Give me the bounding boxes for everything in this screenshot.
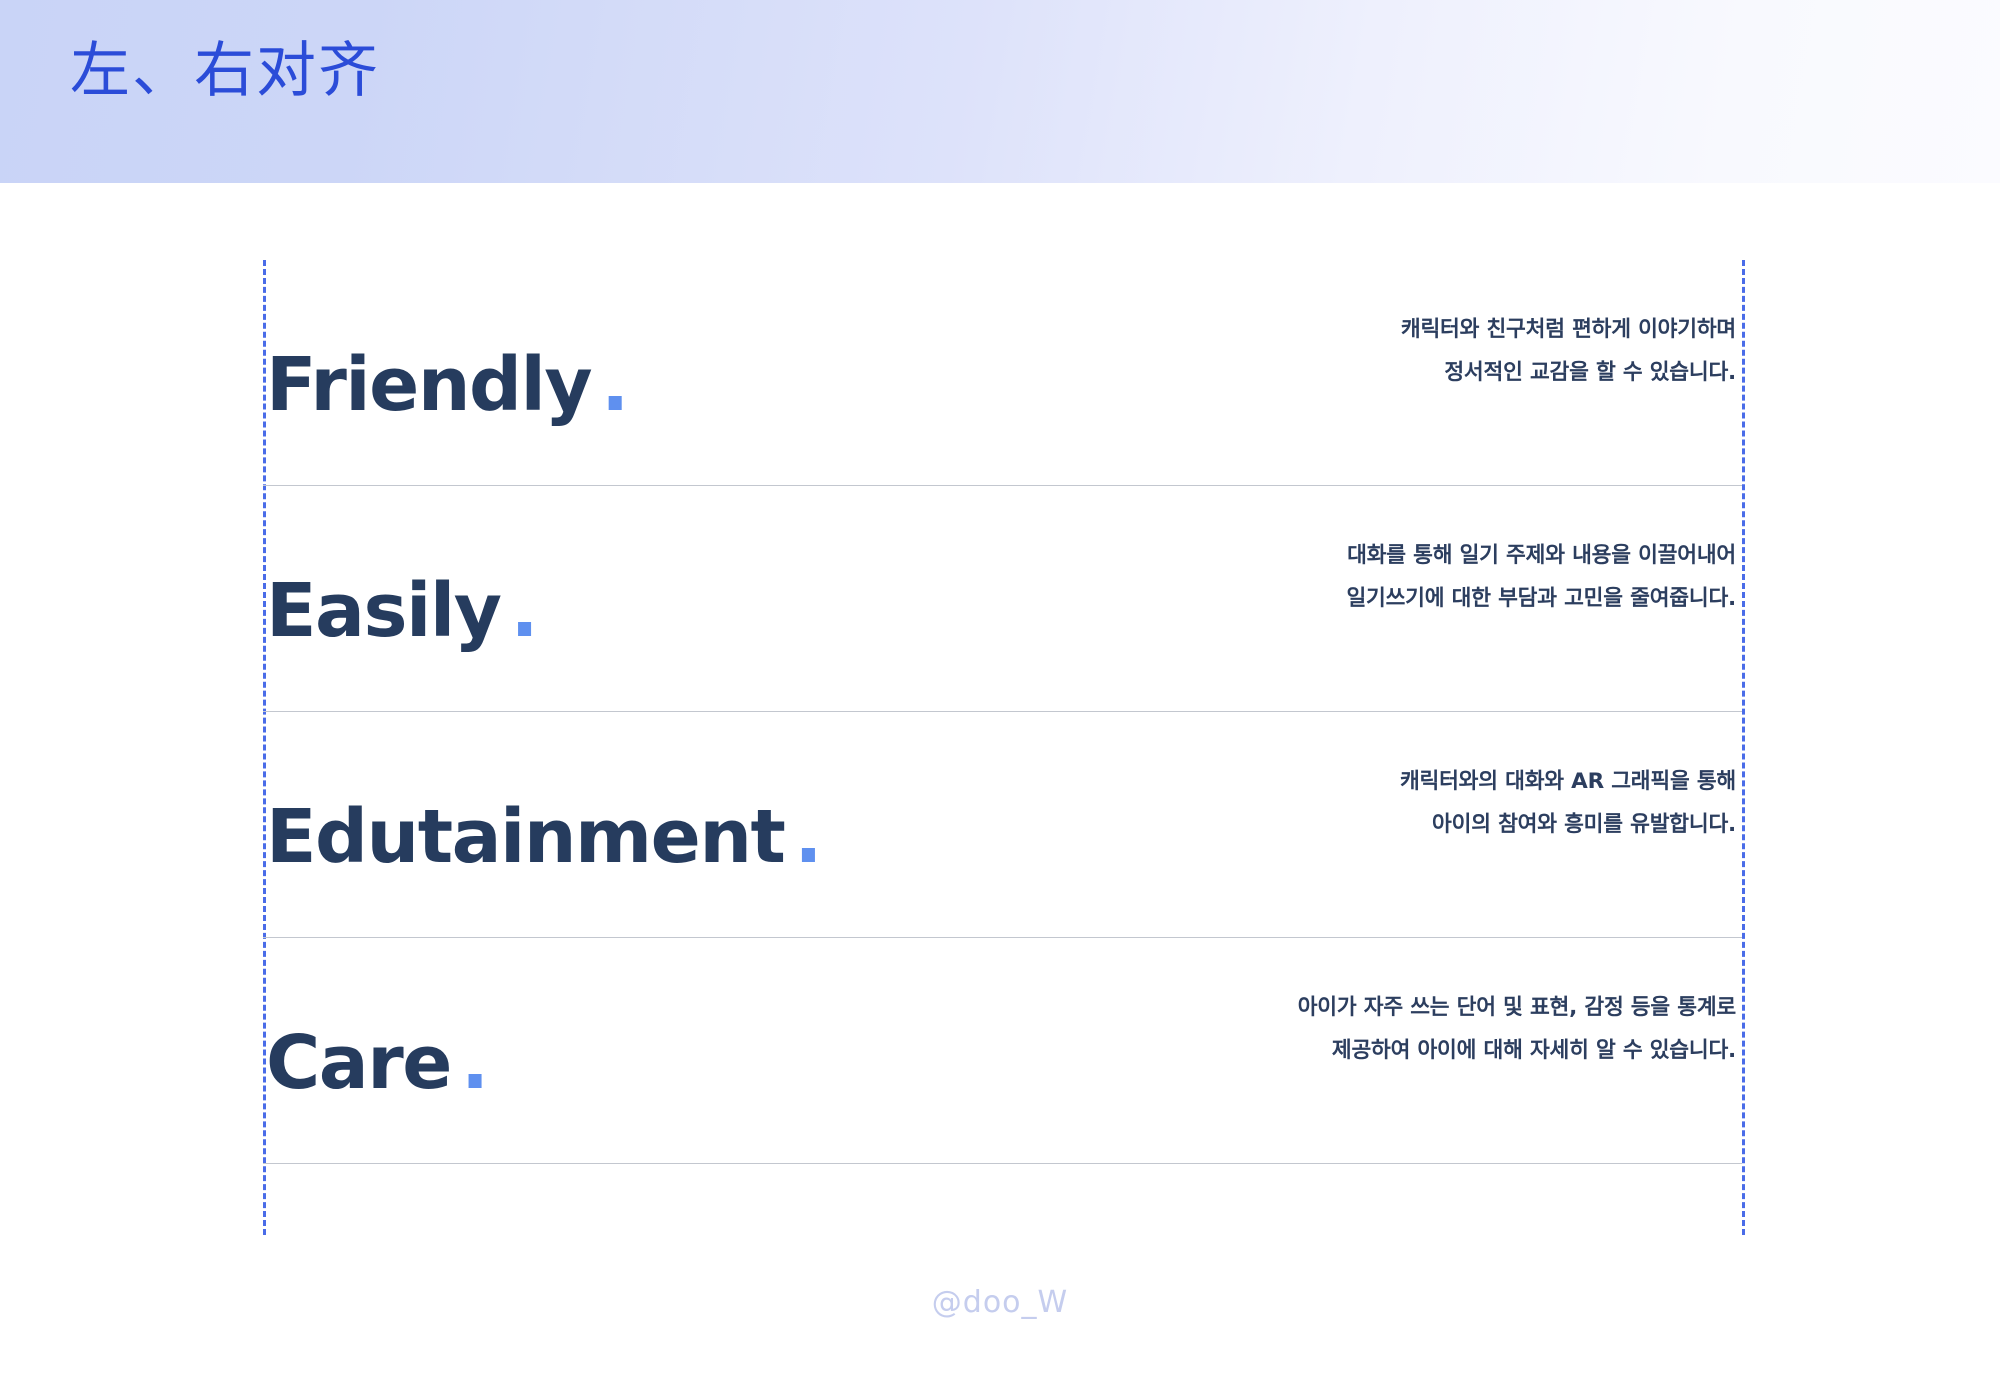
list-item: Edutainment . 캐릭터와의 대화와 AR 그래픽을 통해 아이의 참… (263, 712, 1742, 938)
feature-heading: Friendly . (266, 348, 628, 422)
feature-heading: Edutainment . (266, 800, 821, 874)
feature-description: 아이가 자주 쓰는 단어 및 표현, 감정 등을 통계로 제공하여 아이에 대해… (1298, 986, 1736, 1072)
list-item: Friendly . 캐릭터와 친구처럼 편하게 이야기하며 정서적인 교감을 … (263, 260, 1742, 486)
feature-description-line-1: 캐릭터와의 대화와 AR 그래픽을 통해 (1400, 760, 1736, 803)
feature-description-line-2: 아이의 참여와 흥미를 유발합니다. (1400, 803, 1736, 846)
trailing-spacer (263, 1164, 1742, 1390)
feature-description: 캐릭터와 친구처럼 편하게 이야기하며 정서적인 교감을 할 수 있습니다. (1401, 308, 1736, 394)
slide-canvas: Friendly . 캐릭터와 친구처럼 편하게 이야기하며 정서적인 교감을 … (0, 183, 2000, 1331)
feature-heading-text: Easily (266, 574, 501, 648)
accent-dot: . (601, 348, 628, 422)
alignment-guide-right (1742, 260, 1745, 1235)
feature-description-line-1: 캐릭터와 친구처럼 편하게 이야기하며 (1401, 308, 1736, 351)
feature-description-line-2: 제공하여 아이에 대해 자세히 알 수 있습니다. (1298, 1029, 1736, 1072)
list-item: Easily . 대화를 통해 일기 주제와 내용을 이끌어내어 일기쓰기에 대… (263, 486, 1742, 712)
list-item: Care . 아이가 자주 쓰는 단어 및 표현, 감정 등을 통계로 제공하여… (263, 938, 1742, 1164)
feature-description-line-2: 일기쓰기에 대한 부담과 고민을 줄여줍니다. (1346, 577, 1736, 620)
accent-dot: . (794, 800, 821, 874)
feature-heading-text: Edutainment (266, 800, 784, 874)
accent-dot: . (511, 574, 538, 648)
feature-description-line-2: 정서적인 교감을 할 수 있습니다. (1401, 351, 1736, 394)
feature-description-line-1: 대화를 통해 일기 주제와 내용을 이끌어내어 (1346, 534, 1736, 577)
accent-dot: . (461, 1026, 488, 1100)
feature-description-line-1: 아이가 자주 쓰는 단어 및 표현, 감정 등을 통계로 (1298, 986, 1736, 1029)
feature-heading: Care . (266, 1026, 488, 1100)
feature-description: 캐릭터와의 대화와 AR 그래픽을 통해 아이의 참여와 흥미를 유발합니다. (1400, 760, 1736, 846)
watermark: @doo_W (0, 1285, 2000, 1320)
feature-heading-text: Friendly (266, 348, 591, 422)
feature-heading-text: Care (266, 1026, 451, 1100)
slide-header-band: 左、右对齐 (0, 0, 2000, 183)
feature-description: 대화를 통해 일기 주제와 내용을 이끌어내어 일기쓰기에 대한 부담과 고민을… (1346, 534, 1736, 620)
feature-list: Friendly . 캐릭터와 친구처럼 편하게 이야기하며 정서적인 교감을 … (263, 260, 1742, 1235)
page-title: 左、右对齐 (70, 38, 380, 104)
feature-heading: Easily . (266, 574, 537, 648)
